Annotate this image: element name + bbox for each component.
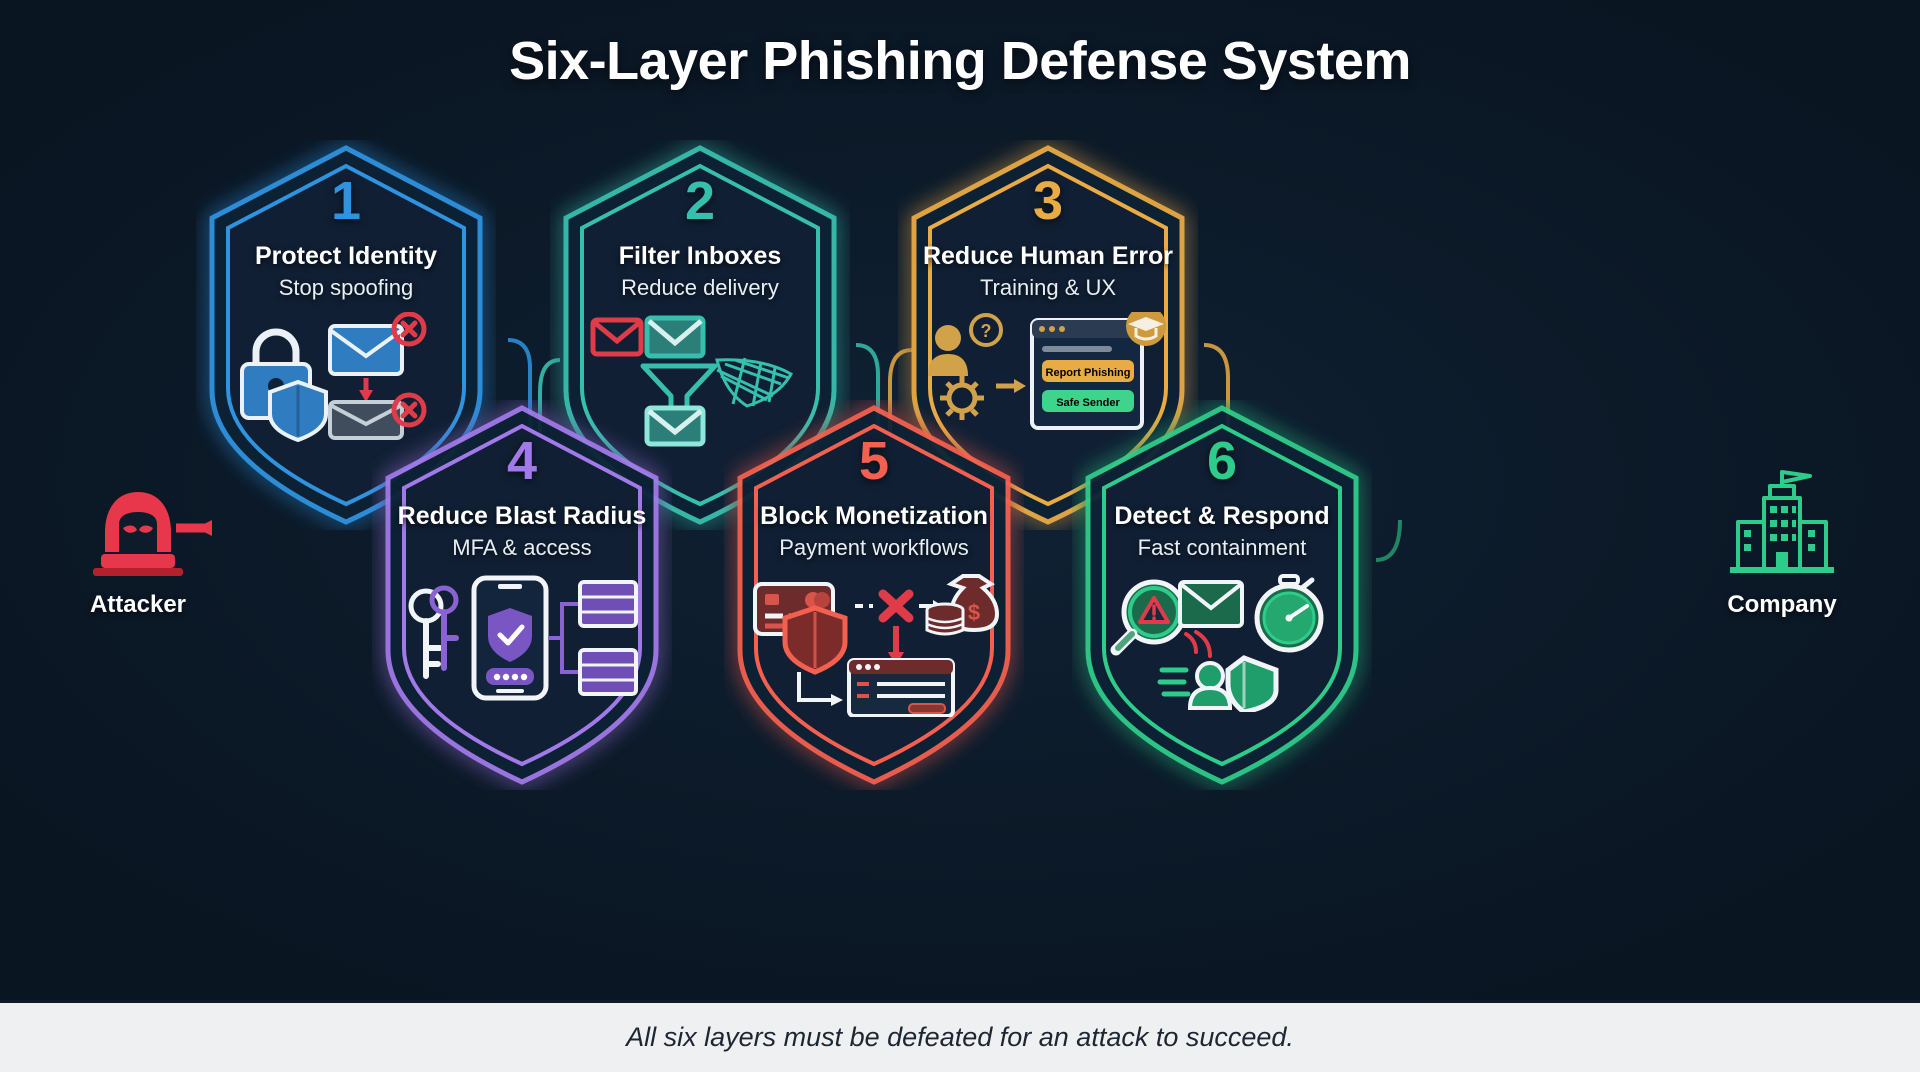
layer-icons-4 <box>372 572 672 702</box>
layer-card-4[interactable]: 4 Reduce Blast Radius MFA & access <box>372 400 672 790</box>
user-question-icon <box>928 325 968 376</box>
layer-icons-5: $ <box>724 572 1024 717</box>
shield-block-icon <box>785 608 845 672</box>
spam-email-icon <box>593 320 641 354</box>
layer-card-5[interactable]: 5 Block Monetization Payment workflows <box>724 400 1024 790</box>
svg-text:?: ? <box>981 321 992 341</box>
keys-icon <box>411 588 456 676</box>
infographic-canvas: Six-Layer Phishing Defense System Attack… <box>0 0 1920 1072</box>
arrow-right-icon <box>996 379 1026 393</box>
server-rack-icon <box>548 582 636 694</box>
magnifier-alert-icon <box>1116 582 1184 650</box>
report-phishing-label: Report Phishing <box>1046 367 1131 379</box>
question-bubble-icon: ? <box>971 315 1001 345</box>
responder-shield-icon <box>1160 658 1276 712</box>
layer-icons-6 <box>1072 572 1372 712</box>
shield-check-icon <box>270 382 326 440</box>
coins-icon <box>927 604 963 634</box>
layer-card-6[interactable]: 6 Detect & Respond Fast containment <box>1072 400 1372 790</box>
alert-email-icon <box>1180 582 1242 656</box>
svg-text:$: $ <box>968 600 980 625</box>
stopwatch-icon <box>1257 576 1321 650</box>
net-icon <box>717 358 791 406</box>
report-phishing-badge: Report Phishing <box>1042 360 1134 382</box>
phone-mfa-icon <box>474 578 546 698</box>
